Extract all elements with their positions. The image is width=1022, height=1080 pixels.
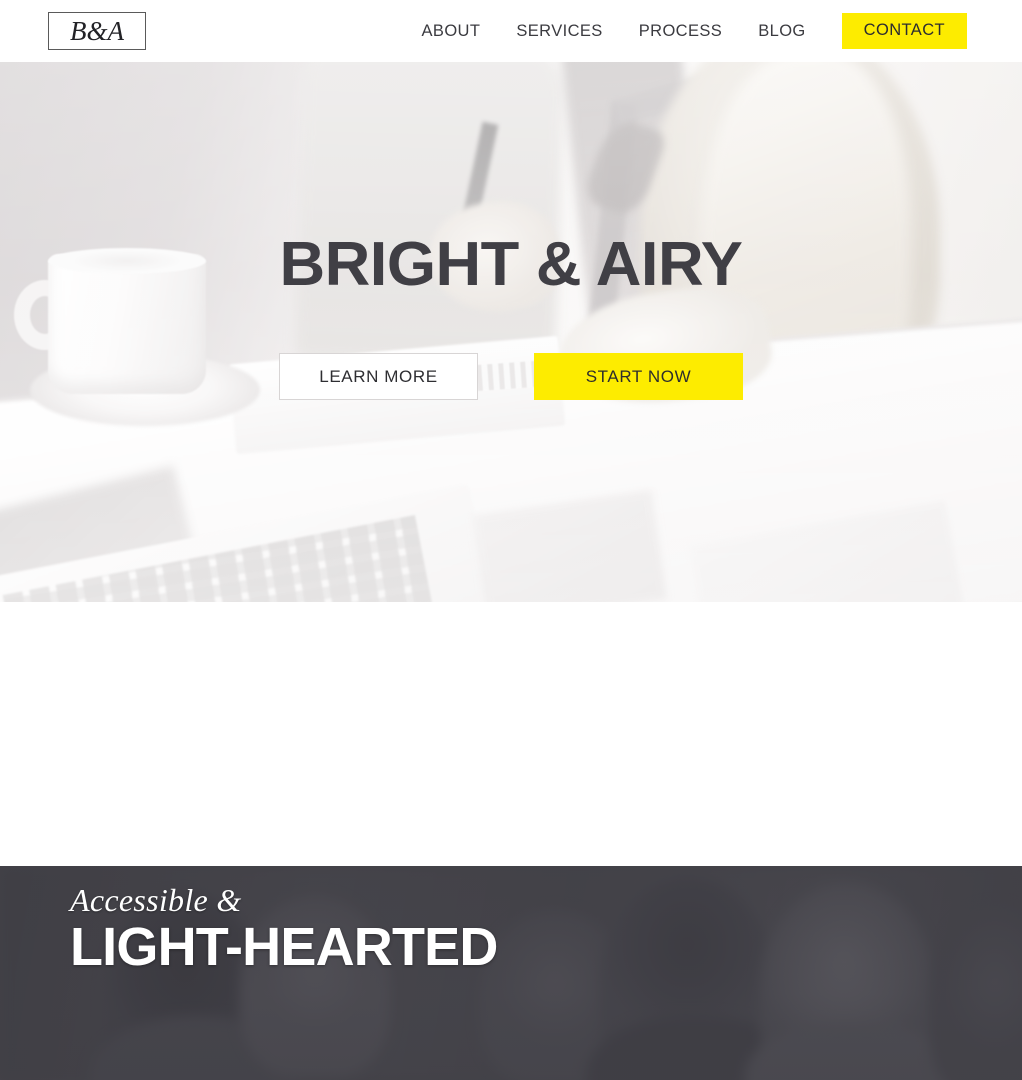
hero-content: BRIGHT & AIRY LEARN MORE START NOW [0,62,1022,602]
learn-more-button[interactable]: LEARN MORE [279,353,478,400]
accessible-script-line: Accessible & [70,884,498,916]
main-navigation: ABOUT SERVICES PROCESS BLOG CONTACT [422,0,1022,62]
logo-text: B&A [70,18,124,45]
light-hearted-headline: LIGHT-HEARTED [70,919,498,976]
start-now-button[interactable]: START NOW [534,353,743,400]
nav-item-blog[interactable]: BLOG [758,22,805,41]
site-header: B&A ABOUT SERVICES PROCESS BLOG CONTACT [0,0,1022,62]
logo[interactable]: B&A [48,12,146,50]
hero-section: BRIGHT & AIRY LEARN MORE START NOW [0,62,1022,602]
page-root: B&A ABOUT SERVICES PROCESS BLOG CONTACT [0,0,1022,1080]
light-hearted-section: Accessible & LIGHT-HEARTED [0,866,1022,1080]
color-palette-section: #E6CE1D #F4DD08 #FDEC00 #403F45 [0,602,1022,860]
nav-item-process[interactable]: PROCESS [639,22,723,41]
nav-contact-button[interactable]: CONTACT [842,13,967,49]
hero-title: BRIGHT & AIRY [280,234,743,296]
nav-item-services[interactable]: SERVICES [516,22,602,41]
hero-button-group: LEARN MORE START NOW [279,353,743,400]
light-hearted-text-block: Accessible & LIGHT-HEARTED [70,884,498,976]
nav-item-about[interactable]: ABOUT [422,22,481,41]
